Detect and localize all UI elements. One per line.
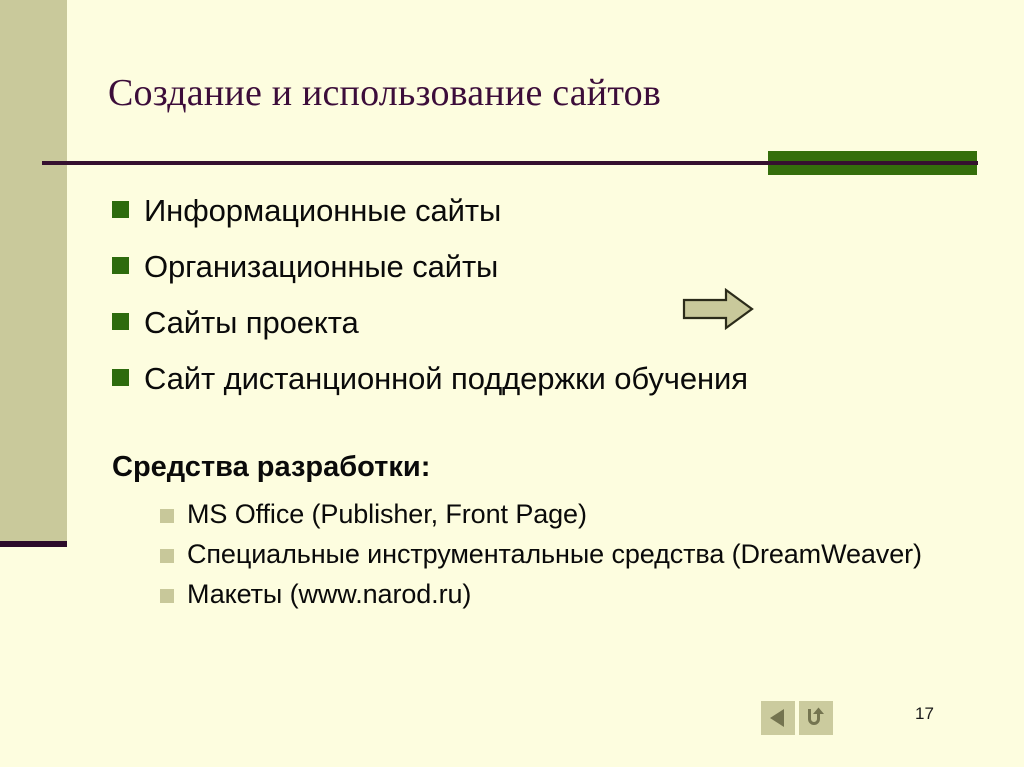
bullet-label: Сайт дистанционной поддержки обучения [144, 354, 748, 403]
previous-slide-triangle-icon [767, 707, 789, 729]
section-heading-label: Средства разработки [112, 451, 421, 483]
bullet-label: Информационные сайты [144, 186, 501, 235]
left-sidebar-strip [0, 0, 67, 541]
list-item: MS Office (Publisher, Front Page) [160, 495, 992, 533]
return-uturn-arrow-icon [804, 706, 828, 730]
list-item: Информационные сайты [112, 186, 992, 235]
bullet-square-icon [112, 257, 129, 274]
slide-title: Создание и использование сайтов [108, 70, 988, 116]
slide-navigation [761, 701, 833, 735]
list-item: Сайты проекта [112, 298, 992, 347]
sub-bullet-label: MS Office (Publisher, Front Page) [187, 495, 587, 533]
slide-number: 17 [915, 703, 934, 725]
bullet-label: Организационные сайты [144, 242, 498, 291]
section-heading-colon: : [421, 451, 431, 483]
sub-list: MS Office (Publisher, Front Page) Специа… [160, 495, 992, 613]
sub-bullet-label: Макеты (www.narod.ru) [187, 575, 471, 613]
previous-slide-button[interactable] [761, 701, 795, 735]
return-button[interactable] [799, 701, 833, 735]
bullet-square-icon [160, 589, 174, 603]
list-item: Специальные инструментальные средства (D… [160, 535, 992, 573]
slide-body: Информационные сайты Организационные сай… [112, 186, 992, 615]
section-heading: Средства разработки: [112, 445, 992, 489]
left-sidebar-underline [0, 541, 67, 547]
bullet-square-icon [112, 201, 129, 218]
title-divider-rule-overlay [768, 161, 978, 165]
bullet-square-icon [112, 313, 129, 330]
list-item: Макеты (www.narod.ru) [160, 575, 992, 613]
bullet-square-icon [112, 369, 129, 386]
list-item: Сайт дистанционной поддержки обучения [112, 354, 992, 403]
bullet-square-icon [160, 509, 174, 523]
list-item: Организационные сайты [112, 242, 992, 291]
sub-bullet-label: Специальные инструментальные средства (D… [187, 535, 922, 573]
presentation-slide: Создание и использование сайтов Информац… [0, 0, 1024, 767]
bullet-square-icon [160, 549, 174, 563]
bullet-label: Сайты проекта [144, 298, 359, 347]
